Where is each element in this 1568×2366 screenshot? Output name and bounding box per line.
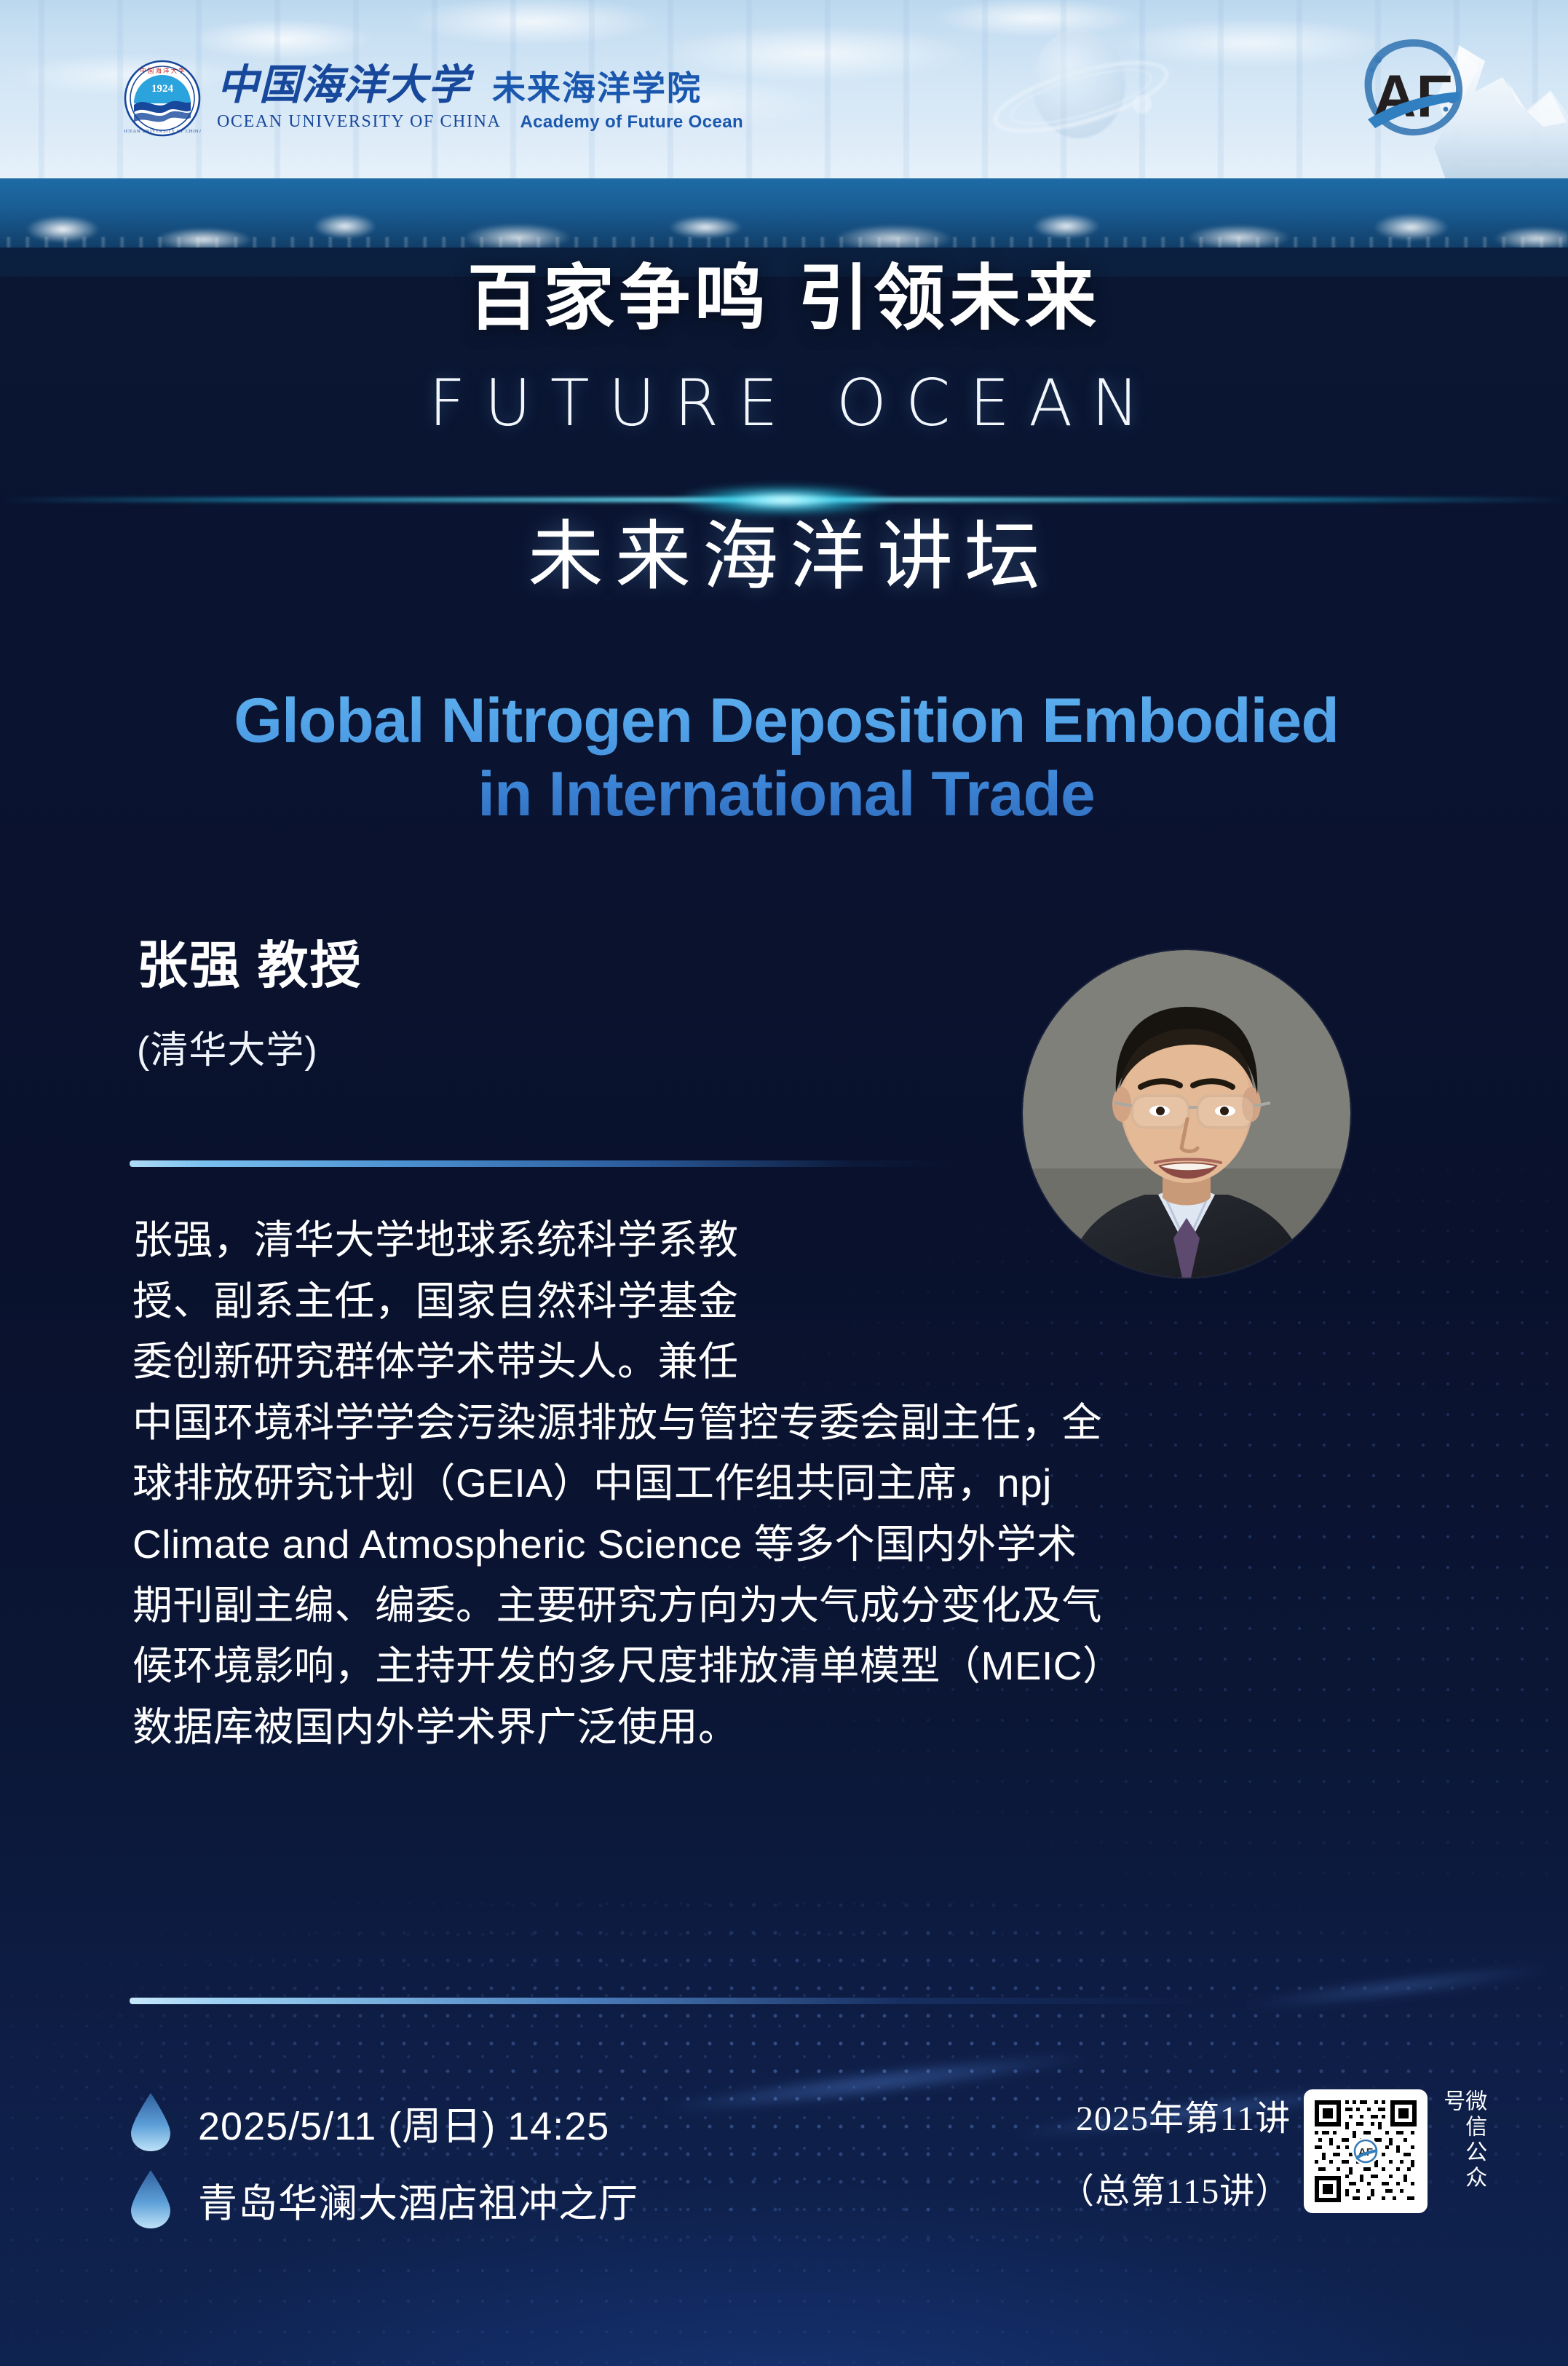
event-datetime: 2025/5/11 (周日) 14:25 xyxy=(198,2094,609,2151)
slogan-left: 百家争鸣 xyxy=(467,258,770,338)
svg-text:中 国 海 洋 大 学: 中 国 海 洋 大 学 xyxy=(140,67,185,74)
lecture-title-line-2: in International Trade xyxy=(116,758,1456,831)
bio-line-6: Climate and Atmospheric Science 等多个国内外学术 xyxy=(132,1514,1443,1575)
academy-name-en: Academy of Future Ocean xyxy=(520,112,743,132)
lecture-poster: 1924 中 国 海 洋 大 学 OCEAN UNIVERSITY OF CHI… xyxy=(0,0,1568,2366)
qr-code-icon[interactable]: AF xyxy=(1312,2097,1419,2205)
poster-slogan: 百家争鸣引领未来 xyxy=(0,262,1568,333)
university-name-en: OCEAN UNIVERSITY OF CHINA xyxy=(217,112,501,132)
speaker-affiliation: (清华大学) xyxy=(137,1019,318,1074)
seal-year-text: 1924 xyxy=(151,83,174,95)
lecture-total-number: （总第115讲） xyxy=(1059,2162,1291,2213)
lecture-title-line-1: Global Nitrogen Deposition Embodied xyxy=(116,684,1456,758)
lecture-number: 2025年第11讲 xyxy=(1059,2089,1291,2140)
academy-name-cn: 未来海洋学院 xyxy=(492,71,702,106)
event-details: 2025/5/11 (周日) 14:25 青岛华澜大酒店祖冲之厅 xyxy=(130,2084,638,2238)
bio-line-9: 数据库被国内外学术界广泛使用。 xyxy=(132,1697,1443,1758)
university-name-cn: 中国海洋大学 xyxy=(217,65,470,106)
divider-top xyxy=(130,1160,952,1167)
wechat-qr-code[interactable]: AF xyxy=(1304,2089,1428,2213)
divider-bottom xyxy=(130,1998,1200,2004)
poster-header: 1924 中 国 海 洋 大 学 OCEAN UNIVERSITY OF CHI… xyxy=(0,0,1568,178)
speaker-biography: 张强，清华大学地球系统科学系教 授、副系主任，国家自然科学基金 委创新研究群体学… xyxy=(132,1210,1443,1757)
speaker-name: 张强 教授 xyxy=(137,925,362,998)
ouc-logo-block: 1924 中 国 海 洋 大 学 OCEAN UNIVERSITY OF CHI… xyxy=(124,60,743,137)
wechat-label: 微信公众号 xyxy=(1441,2089,1484,2213)
bio-line-4: 中国环境科学学会污染源排放与管控专委会副主任，全 xyxy=(132,1393,1443,1454)
planet-icon xyxy=(990,13,1172,166)
slogan-right: 引领未来 xyxy=(798,258,1101,338)
bio-line-3: 委创新研究群体学术带头人。兼任 xyxy=(132,1332,991,1393)
bio-line-7: 期刊副主编、编委。主要研究方向为大气成分变化及气 xyxy=(132,1575,1443,1637)
bio-line-2: 授、副系主任，国家自然科学基金 xyxy=(132,1271,991,1332)
ouc-seal-icon: 1924 中 国 海 洋 大 学 OCEAN UNIVERSITY OF CHI… xyxy=(124,60,201,137)
bio-line-5: 球排放研究计划（GEIA）中国工作组共同主席，npj xyxy=(132,1453,1443,1514)
academy-future-ocean-logo-icon: AF xyxy=(1350,28,1478,148)
lecture-meta: 2025年第11讲 （总第115讲） xyxy=(1059,2089,1484,2213)
water-drop-icon xyxy=(130,2169,172,2230)
series-title-en: FUTURE OCEAN xyxy=(0,371,1568,435)
event-venue: 青岛华澜大酒店祖冲之厅 xyxy=(198,2171,638,2228)
lecture-title: Global Nitrogen Deposition Embodied in I… xyxy=(116,684,1456,832)
water-drop-icon xyxy=(130,2092,172,2153)
series-title-cn: 未来海洋讲坛 xyxy=(0,510,1568,604)
bio-line-1: 张强，清华大学地球系统科学系教 xyxy=(132,1210,991,1271)
svg-text:OCEAN UNIVERSITY OF CHINA: OCEAN UNIVERSITY OF CHINA xyxy=(124,129,201,134)
bio-line-8: 候环境影响，主持开发的多尺度排放清单模型（MEIC） xyxy=(132,1636,1443,1697)
